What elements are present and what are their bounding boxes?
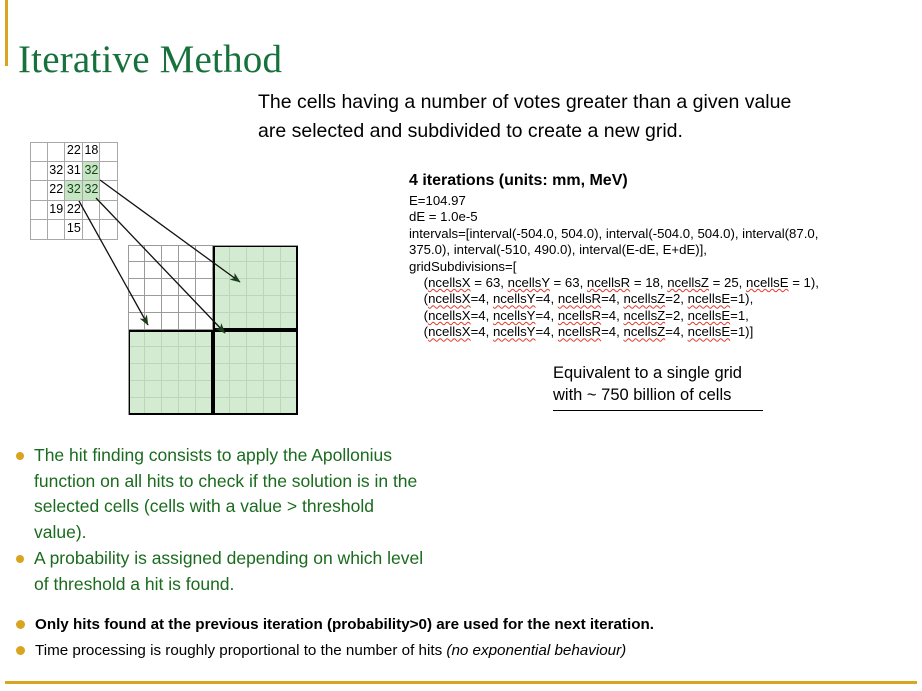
subgrid-cell — [162, 313, 179, 330]
grid-cell-empty — [100, 162, 118, 182]
page-title: Iterative Method — [18, 37, 282, 82]
intro-paragraph: The cells having a number of votes great… — [258, 88, 922, 146]
grid-cell-value: 22 — [48, 181, 66, 201]
grid-cell-empty — [100, 181, 118, 201]
subgrid-cell — [145, 245, 162, 262]
grid-cell-value: 32 — [48, 162, 66, 182]
parameter-line: (ncellsX=4, ncellsY=4, ncellsR=4, ncells… — [409, 308, 909, 324]
subgrid-cell — [145, 262, 162, 279]
subgrid-cell — [162, 296, 179, 313]
bullet-text: A probability is assigned depending on w… — [34, 548, 423, 594]
selected-subdivided-block — [213, 330, 298, 415]
selected-subdivided-block — [128, 330, 213, 415]
summary-bullet-italic-text: (no exponential behaviour) — [446, 642, 626, 659]
cell-vote-count: 19 — [49, 202, 63, 217]
cell-vote-count: 32 — [84, 163, 98, 178]
equivalent-note-line-1: Equivalent to a single grid — [553, 362, 803, 384]
subgrid-cell — [196, 296, 213, 313]
subgrid-cell — [179, 262, 196, 279]
cell-vote-count: 31 — [67, 163, 81, 178]
grid-cell-empty — [30, 201, 48, 221]
parameter-line: dE = 1.0e-5 — [409, 209, 909, 225]
grid-cell-empty — [83, 201, 101, 221]
cell-vote-count: 22 — [67, 143, 81, 158]
cell-vote-count: 32 — [67, 182, 81, 197]
grid-cell-value: 18 — [83, 142, 101, 162]
green-bullet-list: The hit finding consists to apply the Ap… — [8, 443, 428, 598]
subgrid-cell — [196, 279, 213, 296]
bullet-text: The hit finding consists to apply the Ap… — [34, 445, 417, 542]
grid-cell-value: 19 — [48, 201, 66, 221]
bullet-dot-icon — [16, 620, 25, 629]
refined-grid-diagram — [128, 245, 298, 415]
cell-vote-count: 22 — [67, 202, 81, 217]
cell-vote-count: 18 — [84, 143, 98, 158]
subgrid-cell — [128, 313, 145, 330]
subgrid-cell — [179, 245, 196, 262]
subgrid-cell — [128, 296, 145, 313]
equivalent-note-line-2: with ~ 750 billion of cells — [553, 384, 803, 406]
bullet-dot-icon — [16, 555, 24, 563]
grid-cell-value: 22 — [65, 142, 83, 162]
bullet-item: The hit finding consists to apply the Ap… — [8, 443, 428, 545]
subgrid-cell — [196, 262, 213, 279]
subgrid-cell — [128, 262, 145, 279]
cell-vote-count: 22 — [49, 182, 63, 197]
subgrid-cell — [162, 279, 179, 296]
grid-cell-empty — [30, 142, 48, 162]
cell-vote-count: 32 — [49, 163, 63, 178]
grid-cell-empty — [48, 220, 66, 240]
coarse-grid-diagram: 2218323132223232192215 — [30, 142, 118, 240]
parameter-line: (ncellsX = 63, ncellsY = 63, ncellsR = 1… — [409, 275, 909, 291]
subgrid-cell — [179, 296, 196, 313]
grid-cell-value: 22 — [65, 201, 83, 221]
subgrid-cell — [196, 313, 213, 330]
parameter-line: E=104.97 — [409, 193, 909, 209]
subgrid-cell — [145, 279, 162, 296]
summary-bullet-item: Only hits found at the previous iteratio… — [8, 612, 908, 637]
parameter-line: gridSubdivisions=[ — [409, 259, 909, 275]
grid-cell-empty — [83, 220, 101, 240]
title-accent-bar — [5, 0, 8, 66]
bullet-dot-icon — [16, 646, 25, 655]
parameters-heading: 4 iterations (units: mm, MeV) — [409, 170, 909, 191]
subgrid-cell — [179, 279, 196, 296]
bullet-item: A probability is assigned depending on w… — [8, 546, 428, 597]
grid-cell-value: 32 — [83, 181, 101, 201]
subgrid-cell — [128, 245, 145, 262]
grid-cell-value: 32 — [83, 162, 101, 182]
subgrid-cell — [196, 245, 213, 262]
subgrid-cell — [162, 262, 179, 279]
subgrid-cell — [128, 279, 145, 296]
equivalent-grid-note: Equivalent to a single grid with ~ 750 b… — [553, 362, 803, 406]
summary-bullet-text: Time processing is roughly proportional … — [35, 642, 446, 659]
selected-subdivided-block — [213, 245, 298, 330]
grid-cell-empty — [48, 142, 66, 162]
bullet-dot-icon — [16, 452, 24, 460]
subgrid-cell — [145, 313, 162, 330]
subgrid-cell — [179, 313, 196, 330]
parameter-line: 375.0), interval(-510, 490.0), interval(… — [409, 242, 909, 258]
grid-cell-value: 31 — [65, 162, 83, 182]
intro-line-1: The cells having a number of votes great… — [258, 88, 922, 117]
parameter-line: (ncellsX=4, ncellsY=4, ncellsR=4, ncells… — [409, 324, 909, 340]
summary-bullet-item: Time processing is roughly proportional … — [8, 638, 908, 663]
grid-cell-empty — [100, 142, 118, 162]
cell-vote-count: 15 — [67, 221, 81, 236]
grid-cell-empty — [30, 220, 48, 240]
equivalent-note-underline — [553, 410, 763, 411]
grid-cell-empty — [100, 220, 118, 240]
grid-cell-empty — [30, 162, 48, 182]
grid-cell-empty — [30, 181, 48, 201]
parameters-body: E=104.97dE = 1.0e-5intervals=[interval(-… — [409, 193, 909, 341]
grid-cell-empty — [100, 201, 118, 221]
parameter-line: (ncellsX=4, ncellsY=4, ncellsR=4, ncells… — [409, 291, 909, 307]
subgrid-cell — [162, 245, 179, 262]
subgrid-cell — [145, 296, 162, 313]
parameter-line: intervals=[interval(-504.0, 504.0), inte… — [409, 226, 909, 242]
iteration-parameters: 4 iterations (units: mm, MeV) E=104.97dE… — [409, 170, 909, 341]
grid-cell-value: 32 — [65, 181, 83, 201]
intro-line-2: are selected and subdivided to create a … — [258, 117, 922, 146]
summary-bullet-bold-text: Only hits found at the previous iteratio… — [35, 616, 654, 633]
footer-accent-rule — [5, 681, 917, 684]
grid-cell-value: 15 — [65, 220, 83, 240]
cell-vote-count: 32 — [84, 182, 98, 197]
summary-bullet-list: Only hits found at the previous iteratio… — [8, 612, 908, 664]
